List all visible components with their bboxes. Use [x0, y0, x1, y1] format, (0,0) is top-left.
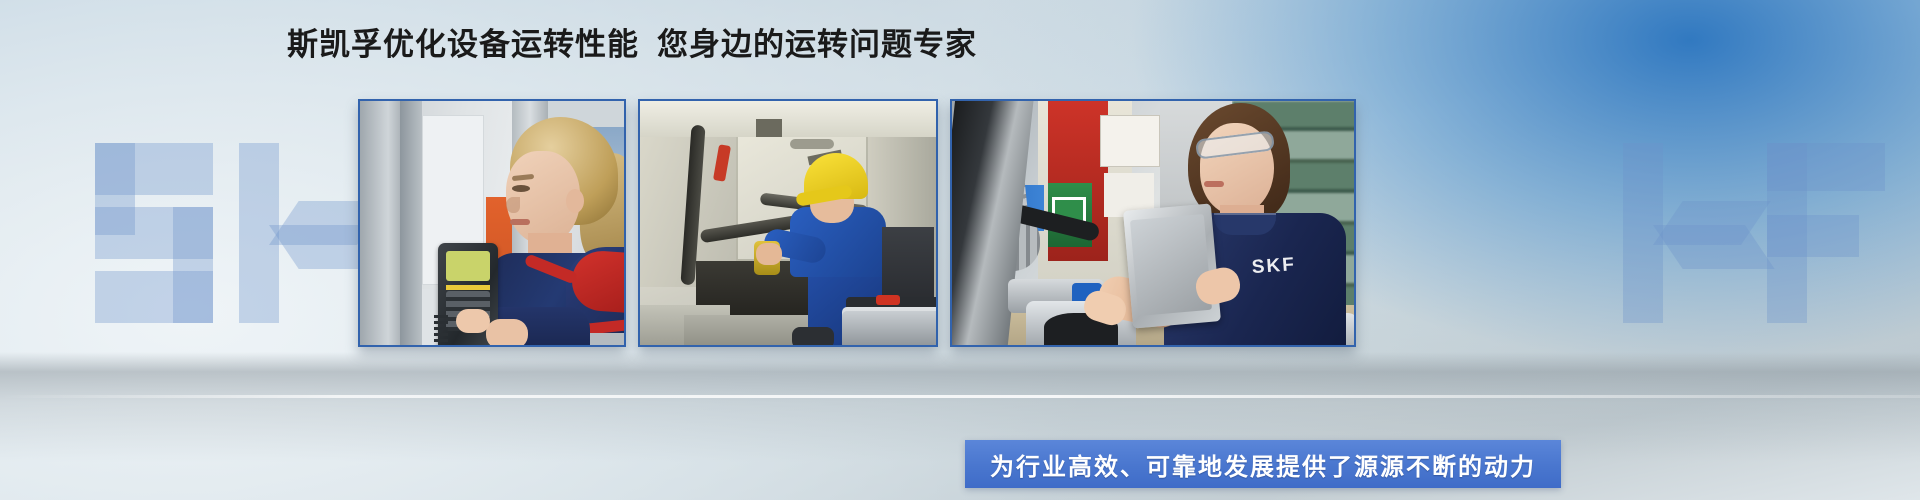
page-title: 斯凯孚优化设备运转性能您身边的运转问题专家: [287, 26, 977, 64]
floor-sheen: [0, 352, 1920, 462]
watermark-letter-f-icon: [1767, 143, 1885, 323]
skf-polo-logo: SKF: [1251, 253, 1315, 283]
photo-strip: SKF: [358, 99, 1356, 347]
photo-specialist-tablet-warehouse[interactable]: SKF: [950, 99, 1356, 347]
photo-engineer-yellow-helmet[interactable]: [638, 99, 938, 347]
floor-highlight-line: [0, 395, 1920, 398]
watermark-letter-s-icon: [95, 143, 213, 323]
watermark-right-group: [1623, 143, 1885, 323]
photo-technician-handheld-analyser[interactable]: [358, 99, 626, 347]
watermark-letter-k-right-icon: [1623, 143, 1741, 323]
headline-secondary: 您身边的运转问题专家: [657, 27, 977, 62]
caption-text: 为行业高效、可靠地发展提供了源源不断的动力: [990, 447, 1536, 482]
watermark-left-group: [95, 143, 357, 323]
skf-hero-banner: 斯凯孚优化设备运转性能您身边的运转问题专家: [0, 0, 1920, 500]
caption-bar: 为行业高效、可靠地发展提供了源源不断的动力: [965, 440, 1561, 488]
headline-primary: 斯凯孚优化设备运转性能: [287, 27, 639, 62]
watermark-letter-k-icon: [239, 143, 357, 323]
